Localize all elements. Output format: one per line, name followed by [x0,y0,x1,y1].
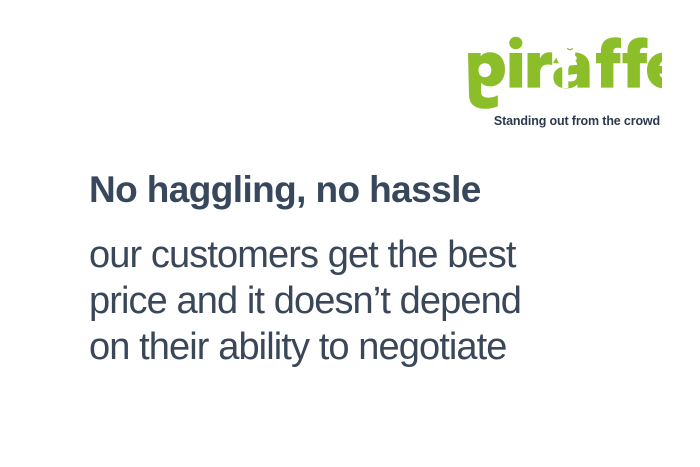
headline: No haggling, no hassle [89,168,629,212]
body-copy-line: our customers get the best [89,232,629,278]
giraffe-logo-icon [462,30,662,112]
body-copy-line: on their ability to negotiate [89,324,629,370]
brand-tagline: Standing out from the crowd [462,114,660,128]
promo-poster: Standing out from the crowd No haggling,… [0,0,700,467]
body-copy-line: price and it doesn’t depend [89,278,629,324]
message-block: No haggling, no hassle our customers get… [89,168,629,370]
brand-lockup: Standing out from the crowd [462,30,662,138]
body-copy: our customers get the best price and it … [89,212,629,370]
